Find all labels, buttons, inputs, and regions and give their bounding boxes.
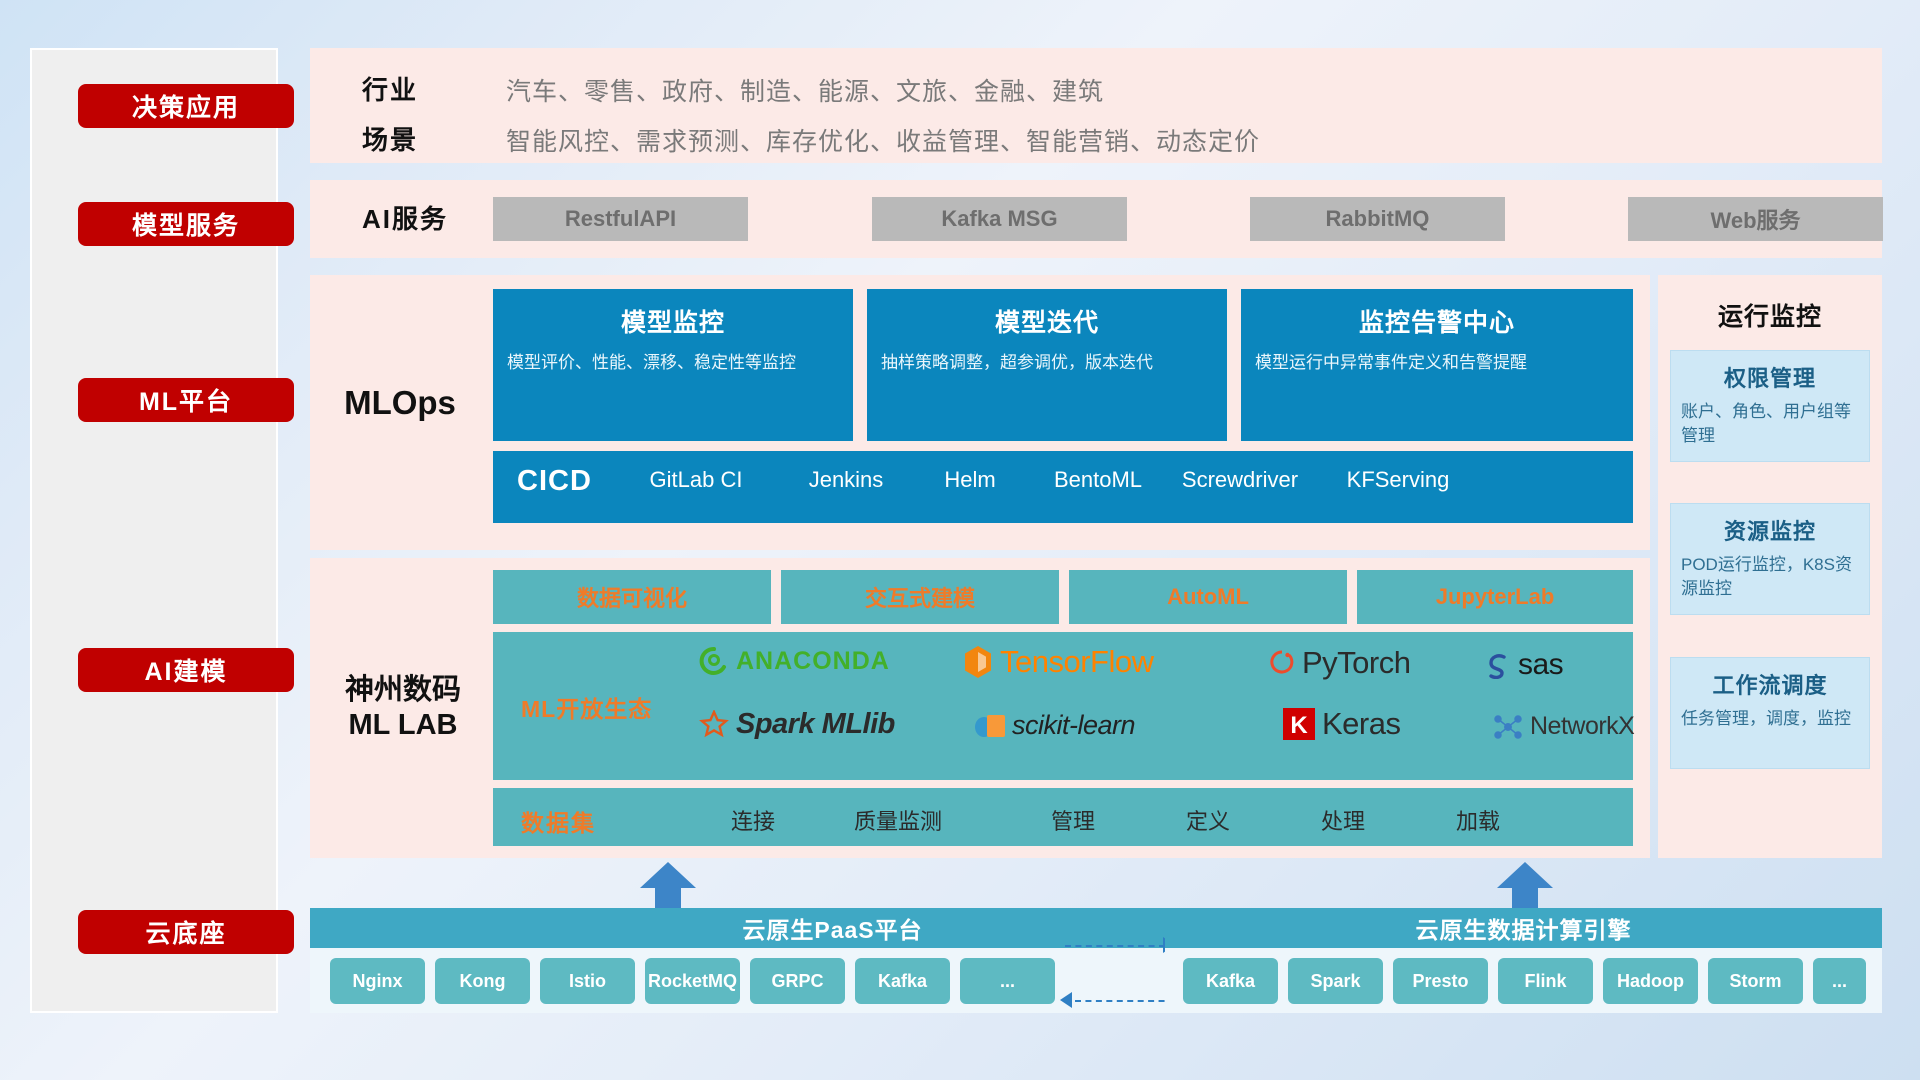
ai-service-chip-restfulapi[interactable]: RestfulAPI xyxy=(493,197,748,241)
paas-tech-kafka[interactable]: Kafka xyxy=(855,958,950,1004)
logo-tensorflow-text: TensorFlow xyxy=(1000,644,1154,680)
monitor-card-title: 工作流调度 xyxy=(1681,668,1859,700)
lab-tab-jupyterlab[interactable]: JupyterLab xyxy=(1357,570,1633,624)
dataset-item-load[interactable]: 加载 xyxy=(1418,804,1538,836)
compute-tech-presto[interactable]: Presto xyxy=(1393,958,1488,1004)
logo-networkx-text: NetworkX xyxy=(1530,712,1634,741)
cicd-item-jenkins[interactable]: Jenkins xyxy=(786,467,906,492)
ai-service-chip-kafka-msg[interactable]: Kafka MSG xyxy=(872,197,1127,241)
ml-lab-band: 神州数码 ML LAB 数据可视化 交互式建模 AutoML JupyterLa… xyxy=(310,558,1650,858)
compute-tech-hadoop[interactable]: Hadoop xyxy=(1603,958,1698,1004)
dataset-item-connect[interactable]: 连接 xyxy=(693,804,813,836)
cicd-title: CICD xyxy=(517,465,592,498)
compute-tech-spark[interactable]: Spark xyxy=(1288,958,1383,1004)
compute-title: 云原生数据计算引擎 xyxy=(1165,908,1882,948)
rail-item-ai-modeling[interactable]: AI建模 xyxy=(78,648,294,692)
monitor-card-resource[interactable]: 资源监控 POD运行监控，K8S资源监控 xyxy=(1670,503,1870,615)
compute-box: 云原生数据计算引擎 Kafka Spark Presto Flink Hadoo… xyxy=(1165,908,1882,1013)
svg-text:K: K xyxy=(1290,712,1308,739)
monitor-card-desc: 账户、角色、用户组等管理 xyxy=(1681,400,1859,448)
compute-tech-flink[interactable]: Flink xyxy=(1498,958,1593,1004)
monitor-card-title: 权限管理 xyxy=(1681,361,1859,393)
monitor-panel-title: 运行监控 xyxy=(1658,297,1882,333)
lab-tab-automl[interactable]: AutoML xyxy=(1069,570,1347,624)
rail-item-model-service[interactable]: 模型服务 xyxy=(78,202,294,246)
cicd-bar: CICD GitLab CI Jenkins Helm BentoML Scre… xyxy=(493,451,1633,523)
compute-tech-storm[interactable]: Storm xyxy=(1708,958,1803,1004)
logo-scikit-learn: scikit-learn xyxy=(973,710,1135,741)
left-rail: 决策应用 模型服务 ML平台 AI建模 云底座 xyxy=(30,48,278,1013)
paas-tech-grpc[interactable]: GRPC xyxy=(750,958,845,1004)
dataset-label: 数据集 xyxy=(521,804,596,838)
sas-icon xyxy=(1483,651,1511,679)
logo-scikit-learn-text: scikit-learn xyxy=(1012,710,1135,741)
paas-tech-kong[interactable]: Kong xyxy=(435,958,530,1004)
ecosystem-label: ML开放生态 xyxy=(521,690,652,724)
cicd-item-screwdriver[interactable]: Screwdriver xyxy=(1180,467,1300,492)
mlops-card-desc: 模型运行中异常事件定义和告警提醒 xyxy=(1255,351,1619,376)
mlops-card-alert-center[interactable]: 监控告警中心 模型运行中异常事件定义和告警提醒 xyxy=(1241,289,1633,441)
compute-to-paas-line xyxy=(1075,1000,1175,1002)
networkx-icon xyxy=(1493,714,1523,740)
rail-item-decision-app[interactable]: 决策应用 xyxy=(78,84,294,128)
mlops-card-title: 监控告警中心 xyxy=(1255,303,1619,339)
paas-tech-rocketmq[interactable]: RocketMQ xyxy=(645,958,740,1004)
compute-to-paas-arrowhead xyxy=(1060,992,1072,1008)
logo-anaconda-text: ANACONDA xyxy=(736,647,890,676)
dataset-item-define[interactable]: 定义 xyxy=(1148,804,1268,836)
mlops-card-title: 模型监控 xyxy=(507,303,839,339)
logo-keras: K Keras xyxy=(1283,706,1400,742)
monitor-card-title: 资源监控 xyxy=(1681,514,1859,546)
logo-keras-text: Keras xyxy=(1322,706,1400,742)
logo-spark-mllib: Spark MLlib xyxy=(699,708,895,741)
mlops-label: MLOps xyxy=(310,373,490,433)
compute-tech-kafka[interactable]: Kafka xyxy=(1183,958,1278,1004)
ai-service-band: AI服务 RestfulAPI Kafka MSG RabbitMQ Web服务 xyxy=(310,180,1882,258)
cicd-item-kfserving[interactable]: KFServing xyxy=(1338,467,1458,492)
compute-tech-more[interactable]: ... xyxy=(1813,958,1866,1004)
ml-lab-label-line1: 神州数码 xyxy=(345,673,461,708)
mlops-card-desc: 模型评价、性能、漂移、稳定性等监控 xyxy=(507,351,839,376)
logo-anaconda: ANACONDA xyxy=(699,646,890,676)
monitor-card-permission[interactable]: 权限管理 账户、角色、用户组等管理 xyxy=(1670,350,1870,462)
mlops-card-desc: 抽样策略调整，超参调优，版本迭代 xyxy=(881,351,1213,376)
scenario-value: 智能风控、需求预测、库存优化、收益管理、智能营销、动态定价 xyxy=(506,122,1260,158)
paas-tech-istio[interactable]: Istio xyxy=(540,958,635,1004)
scikit-learn-icon xyxy=(973,712,1005,740)
spark-star-icon xyxy=(699,710,729,740)
logo-pytorch-text: PyTorch xyxy=(1302,645,1410,681)
compute-up-arrow-head xyxy=(1497,862,1553,888)
tensorflow-icon xyxy=(963,645,993,679)
cicd-item-helm[interactable]: Helm xyxy=(910,467,1030,492)
mlops-card-model-iteration[interactable]: 模型迭代 抽样策略调整，超参调优，版本迭代 xyxy=(867,289,1227,441)
dataset-panel: 数据集 连接 质量监测 管理 定义 处理 加载 xyxy=(493,788,1633,846)
scenario-key: 场景 xyxy=(362,120,418,157)
ml-lab-label-line2: ML LAB xyxy=(348,708,457,743)
mlops-band: MLOps 模型监控 模型评价、性能、漂移、稳定性等监控 模型迭代 抽样策略调整… xyxy=(310,275,1650,550)
rail-item-cloud-base[interactable]: 云底座 xyxy=(78,910,294,954)
monitor-panel: 运行监控 权限管理 账户、角色、用户组等管理 资源监控 POD运行监控，K8S资… xyxy=(1658,275,1882,858)
pytorch-icon xyxy=(1269,648,1295,678)
ai-service-chip-web-service[interactable]: Web服务 xyxy=(1628,197,1883,241)
logo-sas: sas xyxy=(1483,648,1563,682)
anaconda-icon xyxy=(699,646,729,676)
monitor-card-desc: POD运行监控，K8S资源监控 xyxy=(1681,553,1859,601)
monitor-card-workflow[interactable]: 工作流调度 任务管理，调度，监控 xyxy=(1670,657,1870,769)
industry-key: 行业 xyxy=(362,70,418,107)
dataset-item-quality[interactable]: 质量监测 xyxy=(838,804,958,836)
logo-spark-mllib-text: Spark MLlib xyxy=(736,708,895,741)
cicd-item-bentoml[interactable]: BentoML xyxy=(1038,467,1158,492)
application-band: 行业 汽车、零售、政府、制造、能源、文旅、金融、建筑 场景 智能风控、需求预测、… xyxy=(310,48,1882,163)
paas-tech-more[interactable]: ... xyxy=(960,958,1055,1004)
ml-lab-label: 神州数码 ML LAB xyxy=(310,668,496,748)
logo-sas-text: sas xyxy=(1518,648,1563,682)
dataset-item-process[interactable]: 处理 xyxy=(1283,804,1403,836)
logo-pytorch: PyTorch xyxy=(1269,645,1410,681)
cicd-item-gitlab-ci[interactable]: GitLab CI xyxy=(636,467,756,492)
lab-tab-data-visualization[interactable]: 数据可视化 xyxy=(493,570,771,624)
ai-service-chip-rabbitmq[interactable]: RabbitMQ xyxy=(1250,197,1505,241)
industry-value: 汽车、零售、政府、制造、能源、文旅、金融、建筑 xyxy=(506,72,1104,108)
mlops-card-title: 模型迭代 xyxy=(881,303,1213,339)
monitor-card-desc: 任务管理，调度，监控 xyxy=(1681,707,1859,731)
rail-item-ml-platform[interactable]: ML平台 xyxy=(78,378,294,422)
ai-service-label: AI服务 xyxy=(362,199,448,236)
paas-up-arrow-head xyxy=(640,862,696,888)
ml-ecosystem-panel: ML开放生态 ANACONDA TensorFlow xyxy=(493,632,1633,780)
dataset-item-manage[interactable]: 管理 xyxy=(1013,804,1133,836)
paas-tech-nginx[interactable]: Nginx xyxy=(330,958,425,1004)
lab-tab-interactive-modeling[interactable]: 交互式建模 xyxy=(781,570,1059,624)
logo-networkx: NetworkX xyxy=(1493,712,1634,741)
mlops-card-model-monitor[interactable]: 模型监控 模型评价、性能、漂移、稳定性等监控 xyxy=(493,289,853,441)
logo-tensorflow: TensorFlow xyxy=(963,644,1154,680)
architecture-diagram: 决策应用 模型服务 ML平台 AI建模 云底座 行业 汽车、零售、政府、制造、能… xyxy=(0,0,1920,1080)
paas-to-compute-line xyxy=(1065,945,1165,947)
keras-icon: K xyxy=(1283,708,1315,740)
